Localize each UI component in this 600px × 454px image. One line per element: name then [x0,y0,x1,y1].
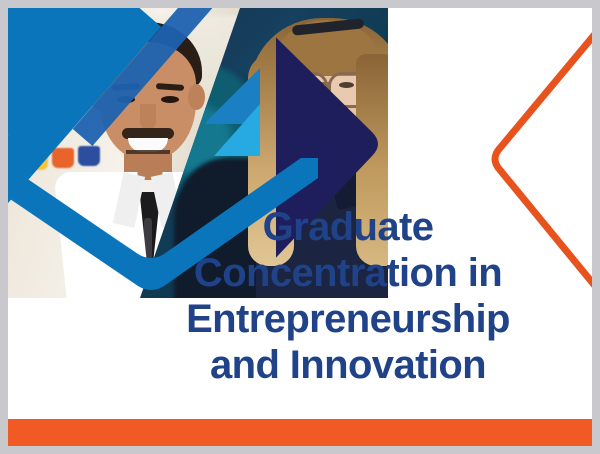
man-ear-right [188,84,205,110]
man-eye-right [161,96,179,103]
headline: Graduate Concentration in Entrepreneursh… [128,204,568,388]
headline-line-2: Concentration in [128,250,568,296]
headline-line-1: Graduate [128,204,568,250]
banner-graphic: Graduate Concentration in Entrepreneursh… [0,0,600,454]
orange-bottom-bar [8,419,592,446]
headline-line-3: Entrepreneurship [128,296,568,342]
man-nose [140,104,156,130]
banner-card: Graduate Concentration in Entrepreneursh… [8,8,592,446]
headline-line-4: and Innovation [128,342,568,388]
